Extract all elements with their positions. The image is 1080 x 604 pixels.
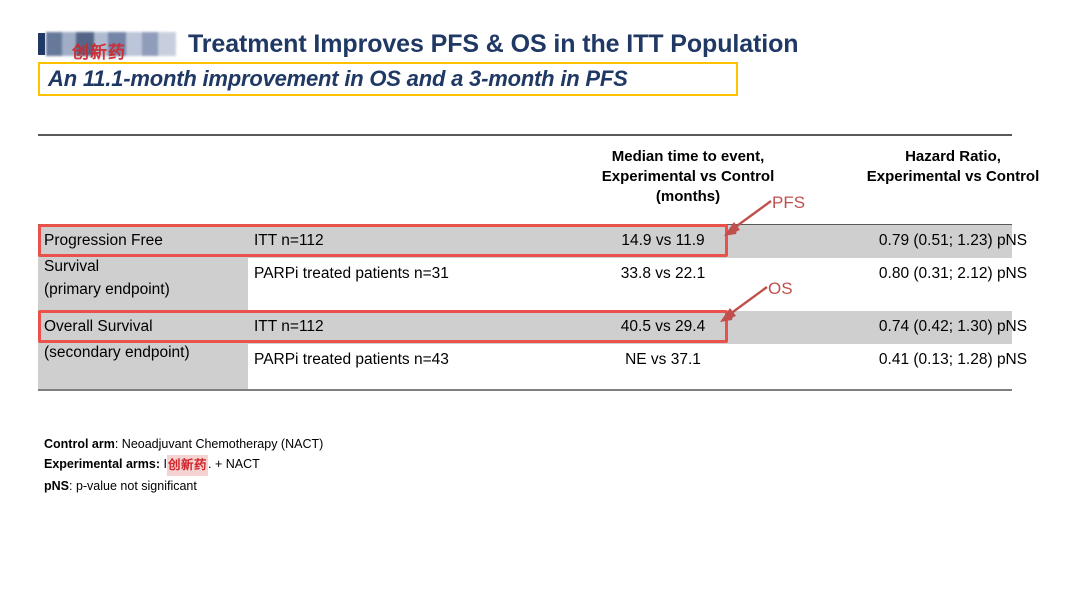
table-row: 0.80 (0.31; 2.12) pNS xyxy=(828,265,1078,283)
footnote-control-arm-label: Control arm xyxy=(44,437,115,451)
table-row: 0.74 (0.42; 1.30) pNS xyxy=(828,318,1078,336)
annotation-label-os: OS xyxy=(768,279,793,299)
annotation-label-pfs: PFS xyxy=(772,193,805,213)
table-row: 0.79 (0.51; 1.23) pNS xyxy=(828,232,1078,250)
endpoint-label-line: Survival xyxy=(44,258,99,276)
column-header-hazard-line1: Hazard Ratio, xyxy=(828,147,1078,167)
column-header-hazard-ratio: Hazard Ratio, Experimental vs Control xyxy=(828,147,1078,187)
table-rule-header xyxy=(38,224,1012,225)
table-row: NE vs 37.1 xyxy=(563,351,763,369)
watermark-cjk-footnote: 创新药 xyxy=(167,455,208,475)
table-rule-bottom xyxy=(38,389,1012,391)
results-table: Median time to event, Experimental vs Co… xyxy=(38,134,1012,391)
slide-title-row: Treatment Improves PFS & OS in the ITT P… xyxy=(38,26,1048,62)
table-row: ITT n=112 xyxy=(254,232,324,250)
footnote-experimental-suffix: . + NACT xyxy=(208,457,260,471)
endpoint-label-line: (primary endpoint) xyxy=(44,281,170,299)
subtitle-text: An 11.1-month improvement in OS and a 3-… xyxy=(48,66,628,92)
footnote-control-arm: Control arm: Neoadjuvant Chemotherapy (N… xyxy=(44,434,323,454)
arrow-pfs-icon xyxy=(718,198,776,238)
footnotes: Control arm: Neoadjuvant Chemotherapy (N… xyxy=(44,434,323,496)
column-header-median-line1: Median time to event, xyxy=(563,147,813,167)
endpoint-label-line: (secondary endpoint) xyxy=(44,344,190,362)
endpoint-label-line: Progression Free xyxy=(44,232,163,250)
subtitle-banner: An 11.1-month improvement in OS and a 3-… xyxy=(38,62,738,96)
footnote-pns: pNS: p-value not significant xyxy=(44,476,323,496)
arrow-os-icon xyxy=(714,284,772,324)
table-row: PARPi treated patients n=43 xyxy=(254,351,449,369)
footnote-control-arm-text: : Neoadjuvant Chemotherapy (NACT) xyxy=(115,437,323,451)
column-header-median-line2: Experimental vs Control xyxy=(563,167,813,187)
table-row: 0.41 (0.13; 1.28) pNS xyxy=(828,351,1078,369)
watermark-cjk-title: 创新药 xyxy=(72,38,126,63)
footnote-experimental-arms-label: Experimental arms: xyxy=(44,457,160,471)
column-header-hazard-line2: Experimental vs Control xyxy=(828,167,1078,187)
table-row: 33.8 vs 22.1 xyxy=(563,265,763,283)
table-row: ITT n=112 xyxy=(254,318,324,336)
table-row: PARPi treated patients n=31 xyxy=(254,265,449,283)
footnote-experimental-prefix: I xyxy=(160,457,167,471)
title-accent-bar xyxy=(38,33,45,55)
footnote-pns-text: : p-value not significant xyxy=(69,479,197,493)
table-rule-top xyxy=(38,134,1012,136)
page-title: Treatment Improves PFS & OS in the ITT P… xyxy=(188,30,798,59)
footnote-experimental-arms: Experimental arms: I创新药. + NACT xyxy=(44,454,323,475)
footnote-pns-label: pNS xyxy=(44,479,69,493)
endpoint-label-line: Overall Survival xyxy=(44,318,153,336)
